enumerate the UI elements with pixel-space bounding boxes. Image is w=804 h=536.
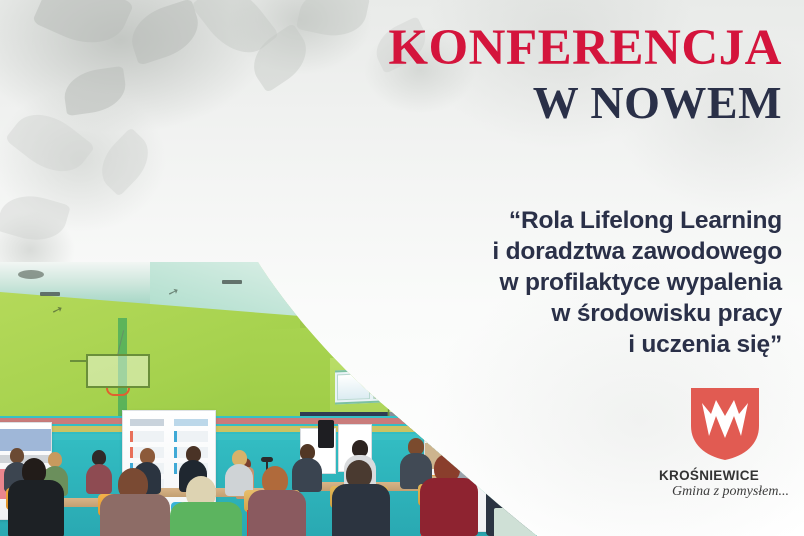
subtitle-line-1: “Rola Lifelong Learning xyxy=(262,205,782,236)
audience-person xyxy=(420,478,478,536)
audience-person xyxy=(170,502,242,536)
subtitle-line-5: i uczenia się” xyxy=(262,329,782,360)
audience-person xyxy=(48,452,62,467)
audience-person xyxy=(248,490,306,536)
ceiling-tube-light xyxy=(222,280,242,284)
krosniewice-logo: KROŚNIEWICE Gmina z pomysłem... xyxy=(655,386,795,500)
poster-headline: KONFERENCJA W NOWEM xyxy=(222,22,782,127)
headline-line-1: KONFERENCJA xyxy=(222,22,782,74)
audience-person xyxy=(10,448,24,463)
audience-person xyxy=(332,484,390,536)
ceiling-dome-light xyxy=(18,270,44,279)
subtitle-line-4: w środowisku pracy xyxy=(262,298,782,329)
logo-tagline: Gmina z pomysłem... xyxy=(655,484,789,500)
headline-line-2: W NOWEM xyxy=(222,80,782,127)
logo-municipality-name: KROŚNIEWICE xyxy=(659,468,795,483)
coat-of-arms-icon xyxy=(655,386,795,462)
audience-person xyxy=(292,458,322,492)
subtitle-line-3: w profilaktyce wypalenia xyxy=(262,267,782,298)
audience-person xyxy=(92,450,106,465)
audience-person xyxy=(86,464,112,494)
ceiling-tube-light xyxy=(40,292,60,296)
audience-person xyxy=(100,494,170,536)
audience-person xyxy=(8,480,64,536)
subtitle-line-2: i doradztwa zawodowego xyxy=(262,236,782,267)
basketball-hoop xyxy=(86,354,150,396)
conference-poster: ➚ ➚ xyxy=(0,0,804,536)
poster-subtitle: “Rola Lifelong Learning i doradztwa zawo… xyxy=(262,205,782,360)
pa-speaker xyxy=(318,420,334,448)
